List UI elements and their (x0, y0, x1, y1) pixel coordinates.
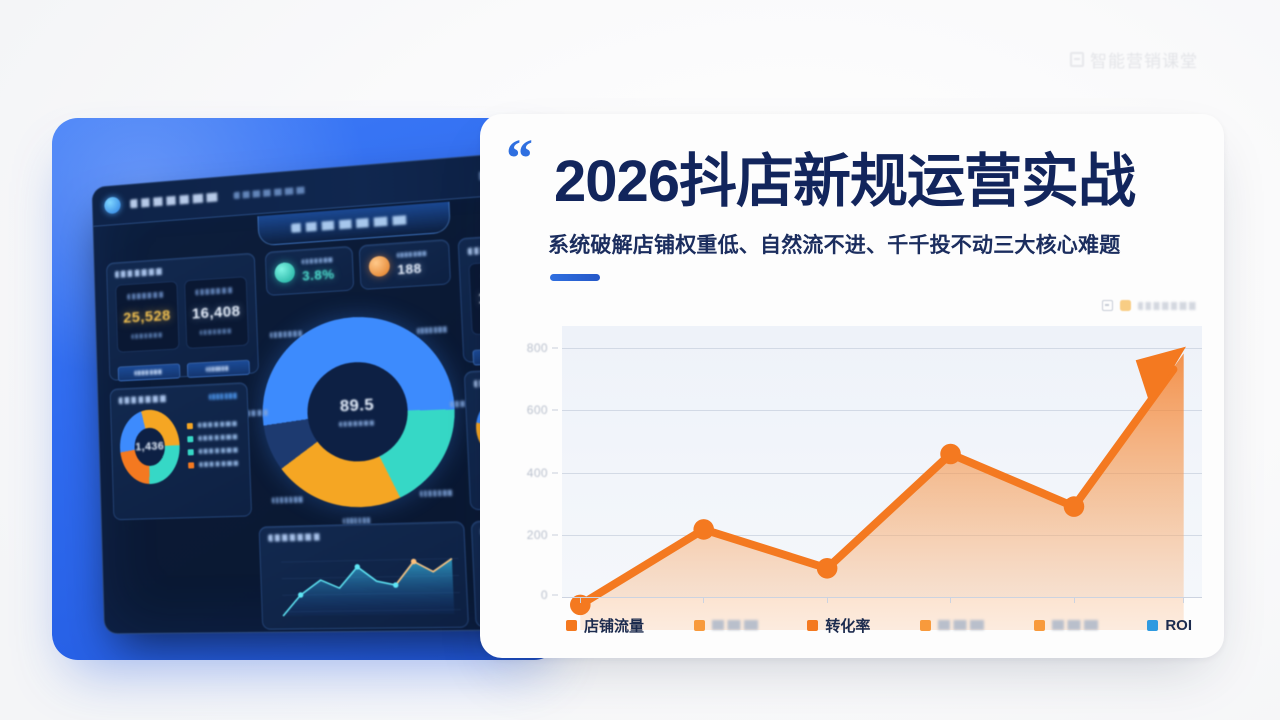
legend-label (199, 447, 241, 454)
legend-label (712, 620, 758, 630)
legend-swatch (188, 449, 194, 455)
y-axis: 800 600 400 200 0 (504, 326, 562, 598)
x-tick (950, 598, 951, 603)
legend-swatch (1147, 620, 1158, 631)
y-tick-label: 600 (527, 403, 548, 417)
card-title (268, 533, 324, 542)
x-tick (1074, 598, 1075, 603)
legend-item (188, 460, 241, 468)
legend-swatch (694, 620, 705, 631)
line-chart-svg (562, 326, 1202, 635)
x-tick (827, 598, 828, 603)
chart-meta-label (1138, 302, 1200, 310)
legend-item-conversion[interactable]: 转化率 (807, 615, 870, 636)
x-tick (1183, 598, 1184, 603)
page-subtitle: 系统破解店铺权重低、自然流不进、千千投不动三大核心难题 (548, 229, 1210, 259)
button-label (206, 366, 230, 372)
donut-center: 1,436 (134, 427, 166, 467)
slide-canvas: 智能营销课堂 (0, 0, 1280, 720)
gauge-value: 89.5 (340, 396, 375, 416)
watermark-text: 智能营销课堂 (1090, 47, 1198, 72)
conversion-dot-icon (274, 262, 295, 283)
legend-item (188, 447, 241, 455)
legend-swatch (566, 620, 577, 631)
y-tick-label: 200 (527, 528, 548, 542)
card-title (119, 395, 170, 404)
metric-label (302, 257, 335, 264)
legend-label: 转化率 (825, 615, 870, 636)
x-axis-line (562, 597, 1202, 598)
kpi-value: 16,408 (190, 303, 242, 323)
legend-label (199, 461, 241, 468)
y-tick-label: 400 (527, 466, 548, 480)
page-title: 2026抖店新规运营实战 (554, 150, 1200, 214)
dashboard-logo-icon (104, 196, 121, 214)
y-tick (552, 595, 558, 596)
metric-pill-conversion[interactable]: 3.8% (265, 246, 355, 296)
legend-label (1052, 620, 1098, 630)
x-tick (703, 598, 704, 603)
kpi-label (196, 287, 236, 296)
chart-meta[interactable] (1102, 300, 1200, 311)
gauge-center: 89.5 (306, 360, 410, 463)
y-tick-label: 0 (541, 588, 548, 602)
y-tick (552, 410, 558, 411)
chart-legend-icon (1102, 300, 1113, 311)
card-header (119, 392, 239, 405)
quote-mark-icon: “ (506, 140, 531, 178)
donut-legend (187, 420, 241, 468)
card-header (115, 262, 246, 278)
traffic-source-donut: 1,436 (119, 409, 181, 485)
legend-item-aov[interactable] (1034, 620, 1098, 631)
legend-label: 店铺流量 (584, 615, 644, 636)
kpi-detail-button[interactable] (118, 363, 180, 381)
kpi-card-left[interactable]: 25,528 16,408 (106, 253, 259, 381)
legend-label (198, 421, 240, 428)
metric-value: 3.8% (302, 266, 335, 283)
legend-item (187, 434, 240, 442)
legend-item-growth[interactable] (694, 620, 758, 631)
legend-item-gmv[interactable] (920, 620, 984, 631)
plot-area (562, 326, 1202, 598)
kpi-button-row (117, 353, 250, 382)
dashboard-subtitle (234, 186, 311, 199)
health-gauge[interactable]: 89.5 (251, 303, 468, 519)
metric-label (397, 251, 429, 258)
chart-section: 800 600 400 200 0 (504, 300, 1206, 644)
legend-label (938, 620, 984, 630)
kpi-sub (200, 328, 234, 335)
legend-swatch (187, 436, 193, 442)
legend-item-traffic[interactable]: 店铺流量 (566, 615, 644, 636)
legend-swatch (807, 620, 818, 631)
gauge-label (420, 490, 455, 497)
y-tick (552, 347, 558, 348)
aov-dot-icon (368, 255, 390, 277)
area-chart-svg (267, 548, 462, 623)
orange-dot-icon (1120, 300, 1131, 311)
accent-divider (550, 274, 600, 281)
card-action-link[interactable] (209, 392, 239, 399)
button-label (134, 369, 163, 375)
y-tick-label: 800 (527, 341, 548, 355)
metric-value: 188 (397, 260, 429, 278)
trend-area-chart (267, 548, 462, 623)
kpi-tile[interactable]: 16,408 (184, 276, 249, 349)
gauge-label (272, 496, 305, 503)
gauge-sub (339, 420, 377, 427)
chart-plot: 800 600 400 200 0 (504, 326, 1206, 598)
watermark-icon (1070, 52, 1084, 67)
kpi-row: 25,528 16,408 (115, 276, 249, 353)
legend-item-roi[interactable]: ROI (1147, 617, 1192, 634)
metric-pill-aov[interactable]: 188 (359, 239, 451, 290)
kpi-tile[interactable]: 25,528 (115, 281, 179, 353)
x-tick (580, 598, 581, 603)
legend-label (198, 434, 240, 441)
area-fill (580, 353, 1183, 630)
dashboard-title (130, 192, 224, 208)
kpi-value: 25,528 (122, 307, 172, 327)
kpi-sub (131, 332, 164, 339)
y-tick (552, 535, 558, 536)
legend-label: ROI (1165, 617, 1192, 634)
content-card: “ 2026抖店新规运营实战 系统破解店铺权重低、自然流不进、千千投不动三大核心… (480, 114, 1224, 658)
kpi-label (127, 291, 166, 299)
spacer (320, 177, 468, 189)
donut-center-value: 1,436 (135, 440, 164, 453)
chart-legend: 店铺流量 转化率 (562, 608, 1206, 642)
watermark: 智能营销课堂 (1070, 44, 1220, 74)
legend-item (187, 420, 240, 428)
legend-swatch (188, 462, 194, 468)
legend-swatch (1034, 620, 1045, 631)
y-tick (552, 472, 558, 473)
legend-swatch (920, 620, 931, 631)
card-title (115, 268, 165, 278)
kpi-detail-button[interactable] (186, 360, 250, 378)
trend-area-card[interactable] (259, 521, 470, 630)
traffic-source-card[interactable]: 1,436 (110, 382, 252, 520)
legend-swatch (187, 422, 193, 428)
